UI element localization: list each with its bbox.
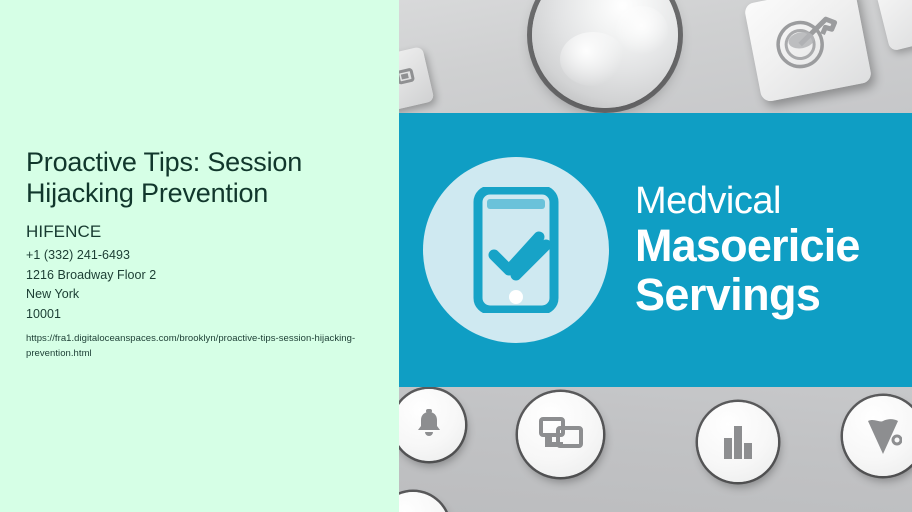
left-info-panel: Proactive Tips: Session Hijacking Preven… <box>0 0 399 512</box>
photo-top-strip <box>399 0 912 114</box>
banner-text-block: Medvical Masoericie Servings <box>635 180 860 321</box>
page-title: Proactive Tips: Session Hijacking Preven… <box>26 147 373 209</box>
banner-line-3: Servings <box>635 269 860 321</box>
page-root: Proactive Tips: Session Hijacking Preven… <box>0 0 912 512</box>
bar-chart-icon <box>698 402 778 482</box>
source-url[interactable]: https://fra1.digitaloceanspaces.com/broo… <box>26 331 356 361</box>
chat-bubbles-icon <box>518 392 603 477</box>
lens-highlight-a <box>560 32 626 86</box>
right-image-panel: Medvical Masoericie Servings <box>399 0 912 512</box>
banner-line-1: Medvical <box>635 180 860 222</box>
address-city: New York <box>26 285 373 305</box>
shield-icon <box>843 396 912 476</box>
bell-icon <box>399 389 465 461</box>
photo-bottom-strip <box>399 387 912 512</box>
address-line-1: 1216 Broadway Floor 2 <box>26 266 373 286</box>
key-lock-tile-icon <box>743 0 872 103</box>
partial-icon <box>399 492 449 512</box>
magnifier-lens-icon <box>532 0 678 108</box>
lens-highlight-b <box>616 6 668 56</box>
promo-banner: Medvical Masoericie Servings <box>399 113 912 387</box>
company-name: HIFENCE <box>26 221 373 242</box>
corner-tile-icon <box>399 46 435 114</box>
edge-tile-icon <box>876 0 912 52</box>
text-block: Proactive Tips: Session Hijacking Preven… <box>26 147 373 361</box>
phone-number: +1 (332) 241-6493 <box>26 246 373 266</box>
banner-line-2: Masoericie <box>635 222 860 269</box>
smartphone-checkmark-icon <box>423 157 609 343</box>
address-zip: 10001 <box>26 305 373 325</box>
